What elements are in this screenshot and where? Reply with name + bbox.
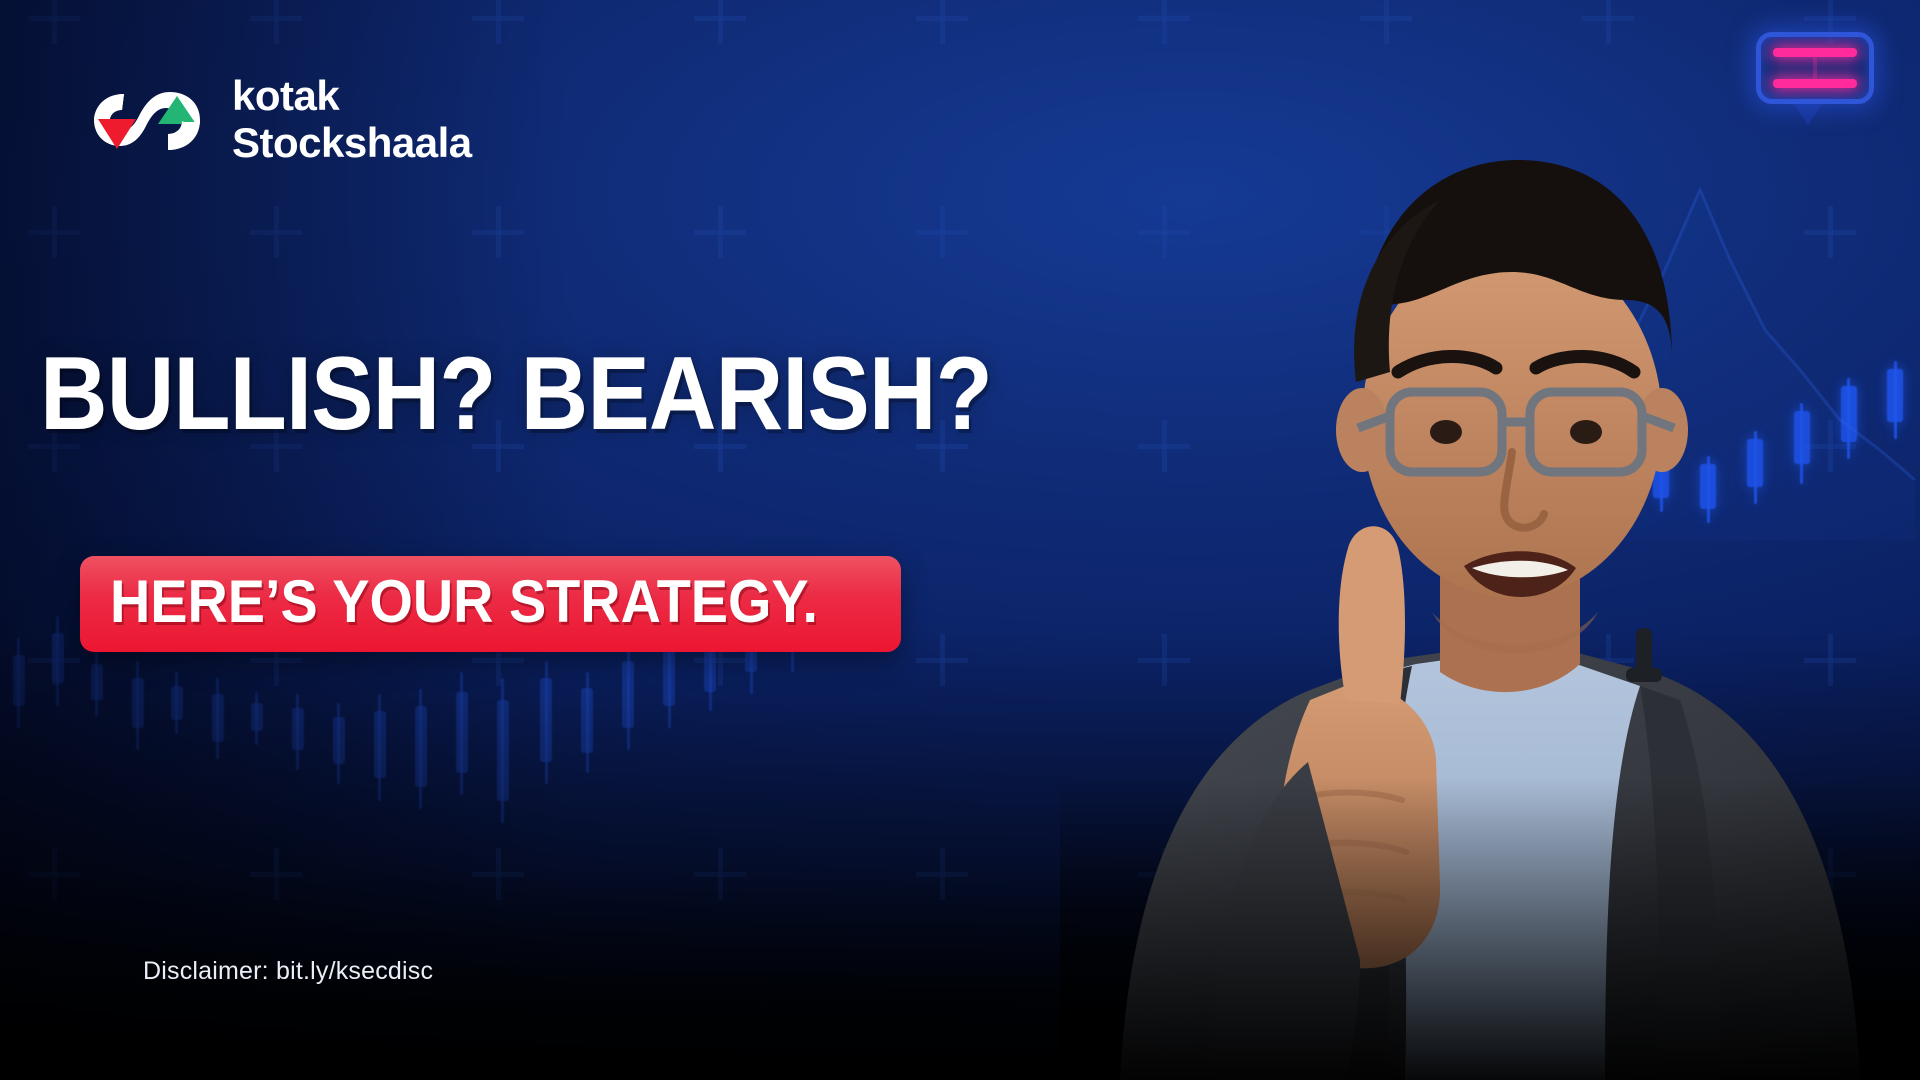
brand-logo-line1: kotak	[232, 72, 472, 119]
disclaimer-text[interactable]: Disclaimer: bit.ly/ksecdisc	[143, 957, 433, 986]
brand-logo-text: kotak Stockshaala	[232, 72, 472, 166]
strategy-banner[interactable]: HERE’S YOUR STRATEGY.	[80, 556, 901, 652]
presenter-image	[1060, 0, 1920, 1080]
brand-logo-line2: Stockshaala	[232, 119, 472, 166]
strategy-banner-label: HERE’S YOUR STRATEGY.	[110, 572, 818, 632]
creative-banner-stage: kotak Stockshaala BULLISH? BEARISH? HERE…	[0, 0, 1920, 1080]
brand-logo[interactable]: kotak Stockshaala	[88, 72, 472, 166]
kotak-infinity-logo-mark-icon	[88, 80, 206, 158]
page-title: BULLISH? BEARISH?	[40, 342, 992, 446]
